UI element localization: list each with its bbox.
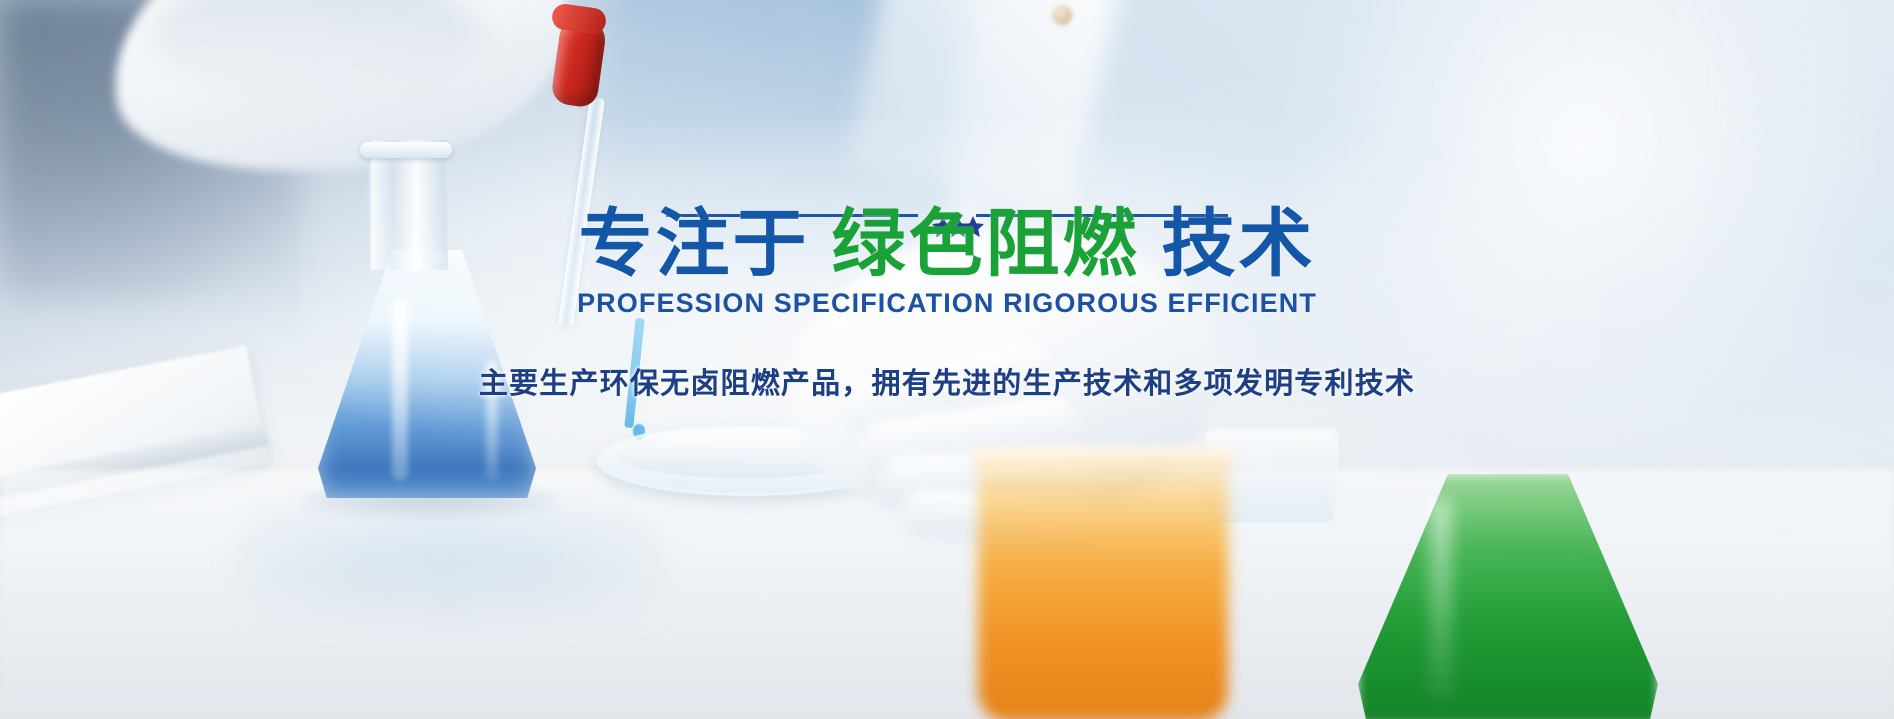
headline-part-3: 技术 <box>1162 201 1316 287</box>
headline-part-2: 绿色阻燃 <box>832 201 1140 287</box>
banner-content: 专注于绿色阻燃技术 PROFESSION SPECIFICATION RIGOR… <box>0 0 1894 719</box>
hero-banner: 专注于绿色阻燃技术 PROFESSION SPECIFICATION RIGOR… <box>0 0 1894 719</box>
headline-part-1: 专注于 <box>579 201 810 287</box>
subtitle-english: PROFESSION SPECIFICATION RIGOROUS EFFICI… <box>0 288 1894 319</box>
tagline-chinese: 主要生产环保无卤阻燃产品，拥有先进的生产技术和多项发明专利技术 <box>0 360 1894 402</box>
page-title: 专注于绿色阻燃技术 <box>0 198 1894 290</box>
